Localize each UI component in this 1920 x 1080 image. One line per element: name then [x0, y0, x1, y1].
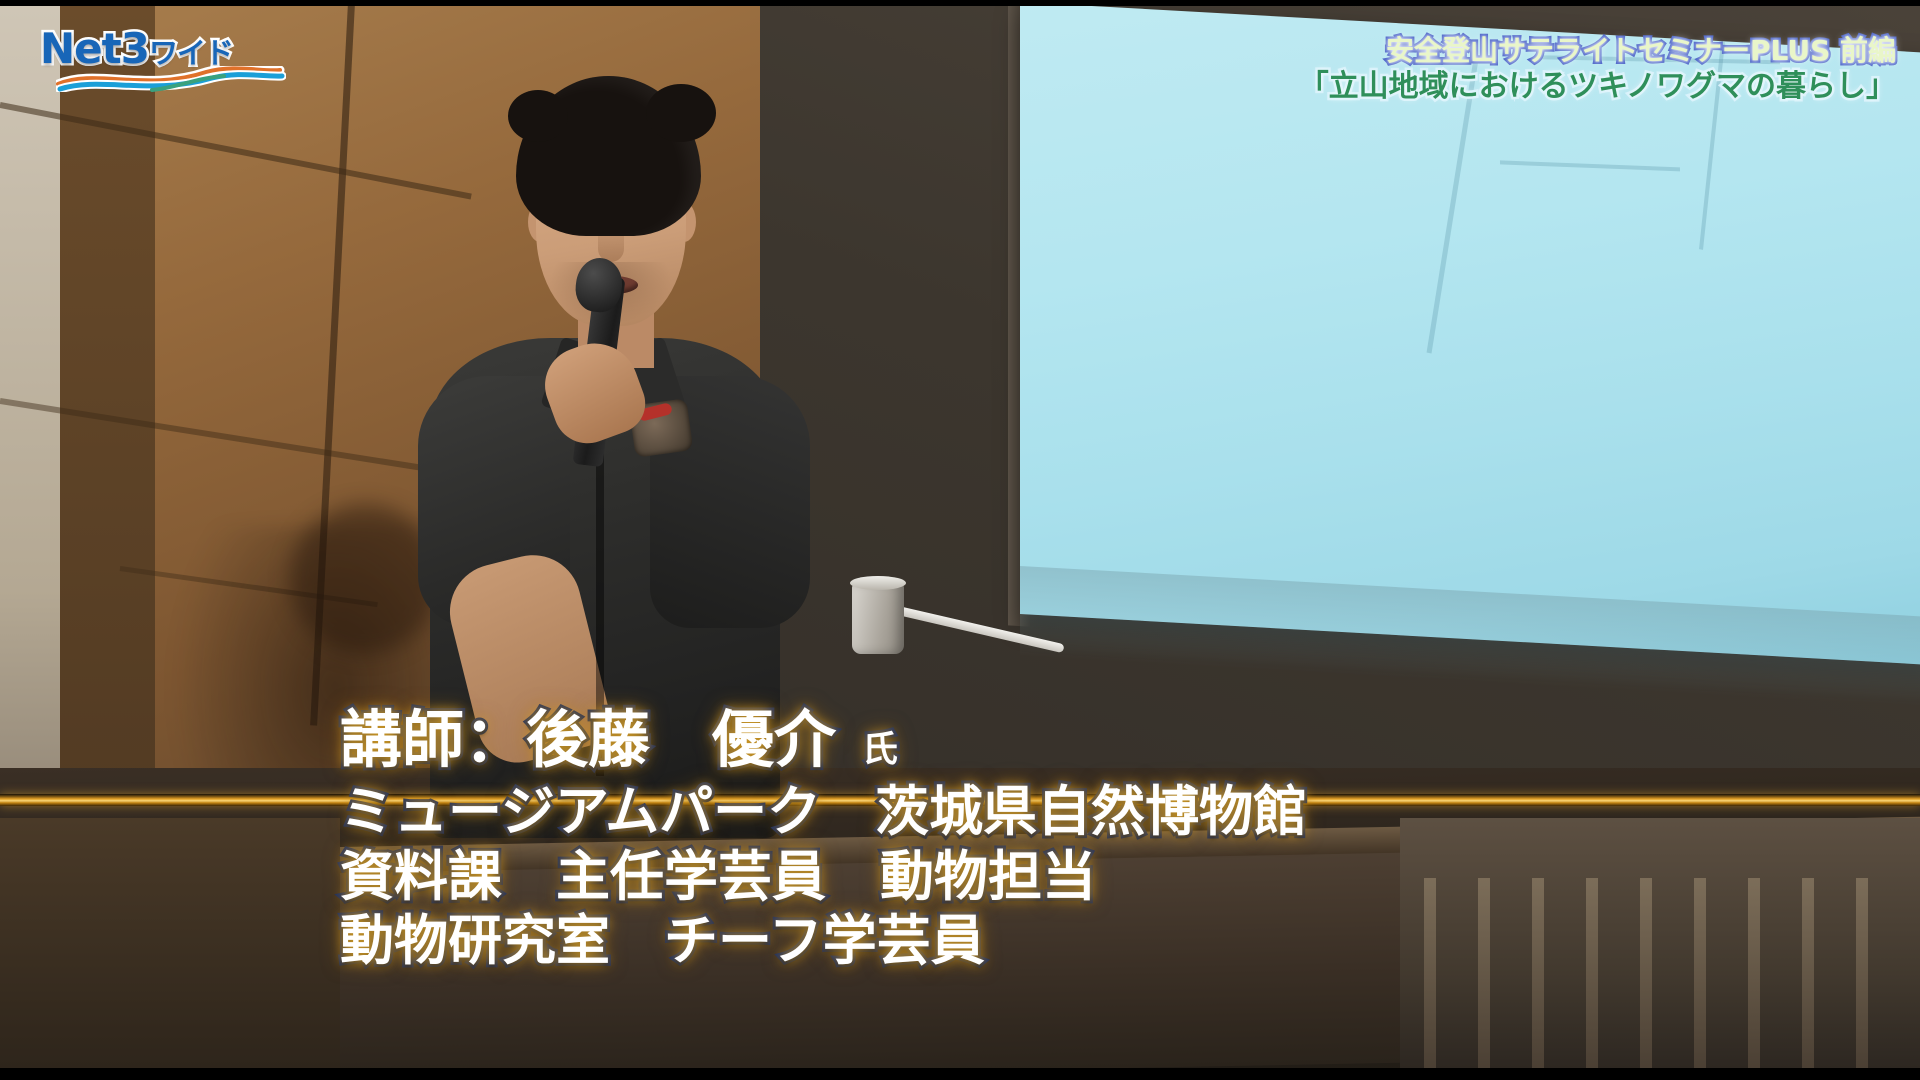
chair-slat — [1424, 878, 1436, 1068]
program-title-line1: 安全登山サテライトセミナーPLUS 前編 — [1299, 34, 1896, 67]
speaker-name-line: 講師：後藤 優介 氏 — [340, 708, 1307, 772]
chair-slat — [1532, 878, 1544, 1068]
chair-slat — [1478, 878, 1490, 1068]
desk-microphone — [852, 582, 904, 654]
channel-logo-text: Net3ワイド — [40, 28, 280, 70]
channel-logo-kana: ワイド — [149, 36, 233, 70]
speaker-name-suffix: 氏 — [862, 731, 898, 768]
speaker-organization: ミュージアムパーク 茨城県自然博物館 — [340, 784, 1307, 840]
video-content: Net3ワイド 安全登山サテライトセミナーPLUS 前編 「立山地域におけるツキ… — [0, 6, 1920, 1068]
speaker-name: 講師：後藤 優介 — [340, 708, 836, 772]
speaker-role-line1: 資料課 主任学芸員 動物担当 — [340, 849, 1307, 905]
chair-slat — [1694, 878, 1706, 1068]
broadcast-frame: Net3ワイド 安全登山サテライトセミナーPLUS 前編 「立山地域におけるツキ… — [0, 0, 1920, 1080]
chair-slat — [1748, 878, 1760, 1068]
chair-slat — [1856, 878, 1868, 1068]
speaker-hair-tuft — [508, 90, 568, 142]
podium-left-block — [0, 818, 340, 1068]
speaker-role-line2: 動物研究室 チーフ学芸員 — [340, 913, 1307, 969]
chair-row-right — [1400, 818, 1920, 1068]
lower-third-caption: 講師：後藤 優介 氏 ミュージアムパーク 茨城県自然博物館 資料課 主任学芸員 … — [340, 708, 1307, 969]
screen-faint-mark-3 — [1500, 160, 1680, 171]
projection-screen — [1020, 6, 1920, 665]
program-title-line2: 「立山地域におけるツキノワグマの暮らし」 — [1299, 69, 1896, 104]
channel-logo: Net3ワイド — [40, 28, 280, 100]
channel-logo-wave-icon — [56, 66, 286, 92]
letterbox-bar-top — [0, 0, 1920, 6]
speaker-hair-tuft — [646, 84, 716, 142]
desk-microphone-top — [850, 576, 906, 590]
chair-slat — [1640, 878, 1652, 1068]
chair-slat — [1802, 878, 1814, 1068]
letterbox-bar-bottom — [0, 1068, 1920, 1080]
program-title: 安全登山サテライトセミナーPLUS 前編 「立山地域におけるツキノワグマの暮らし… — [1299, 34, 1896, 104]
chair-slat — [1586, 878, 1598, 1068]
